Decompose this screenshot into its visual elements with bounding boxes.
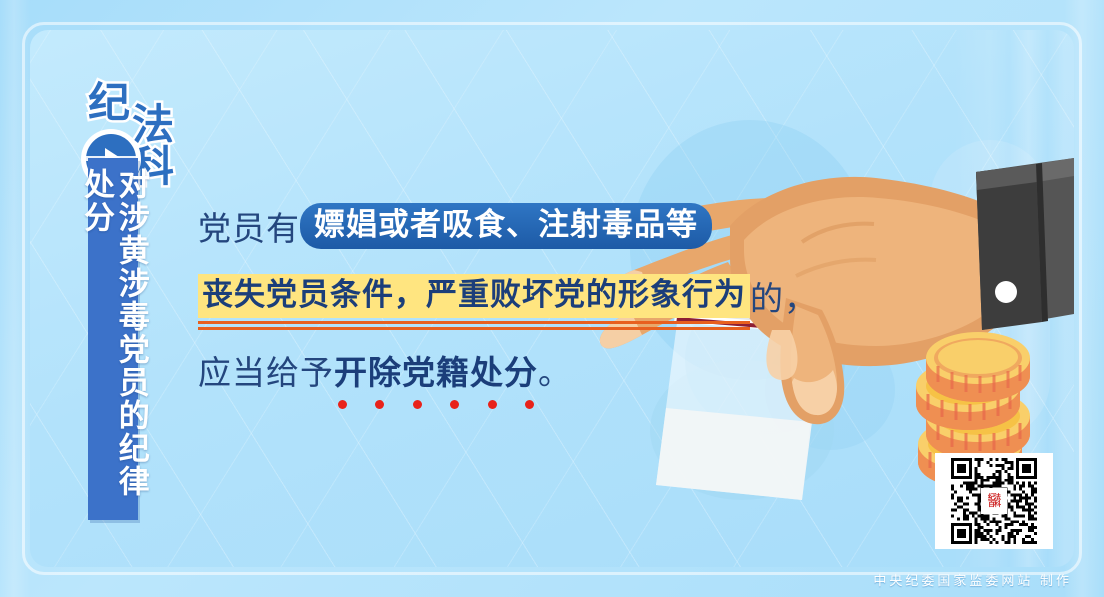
artwork-canvas: 纪 法 科 对涉黄涉毒党员的纪律处分 党员有 嫖娼或者吸食、注射毒品等 丧失党员… xyxy=(30,30,1074,567)
logo-char-fa: 法 xyxy=(132,104,174,146)
suit-cuff-shape xyxy=(976,158,1074,330)
line3-prefix: 应当给予 xyxy=(198,346,334,394)
banner-title-text: 对涉黄涉毒党员的纪律处分 xyxy=(78,168,147,520)
underline-rule-bottom xyxy=(198,327,750,330)
line2-yellow-mark: 丧失党员条件，严重败坏党的形象行为 xyxy=(198,274,750,319)
line2-mark-wrap: 丧失党员条件，严重败坏党的形象行为 xyxy=(198,274,750,319)
qr-inner: 纪法百科 xyxy=(940,458,1048,544)
emphasis-dot-row xyxy=(338,400,534,409)
poster: 纪 法 科 对涉黄涉毒党员的纪律处分 党员有 嫖娼或者吸食、注射毒品等 丧失党员… xyxy=(0,0,1104,597)
emphasis-dot xyxy=(338,400,347,409)
emphasis-dot xyxy=(525,400,534,409)
statement-line-3: 应当给予 开除党籍处分 。 xyxy=(198,346,758,394)
statement-line-1: 党员有 嫖娼或者吸食、注射毒品等 xyxy=(198,202,758,250)
qr-center-logo: 纪法百科 xyxy=(981,488,1007,514)
vertical-title-banner: 对涉黄涉毒党员的纪律处分 xyxy=(88,158,138,520)
underline-rule-top xyxy=(198,321,750,324)
cuff-button xyxy=(995,281,1017,303)
emphasis-dot xyxy=(488,400,497,409)
footer-credit: 中央纪委国家监委网站 制作 xyxy=(873,570,1072,589)
qr-code[interactable]: 纪法百科 xyxy=(935,453,1053,549)
logo-char-ji: 纪 xyxy=(88,82,130,124)
statement-line-2: 丧失党员条件，严重败坏党的形象行为 的， xyxy=(198,272,758,320)
line2-suffix: 的， xyxy=(750,272,818,320)
line1-highlight-pill: 嫖娼或者吸食、注射毒品等 xyxy=(300,203,712,250)
line3-emphasis-wrap: 开除党籍处分 xyxy=(334,346,538,394)
line3-emphasis: 开除党籍处分 xyxy=(334,354,538,391)
line3-suffix: 。 xyxy=(538,346,572,394)
statement-block: 党员有 嫖娼或者吸食、注射毒品等 丧失党员条件，严重败坏党的形象行为 的， 应当… xyxy=(198,202,758,394)
emphasis-dot xyxy=(413,400,422,409)
line1-prefix: 党员有 xyxy=(198,202,300,250)
emphasis-dot xyxy=(450,400,459,409)
emphasis-dot xyxy=(375,400,384,409)
